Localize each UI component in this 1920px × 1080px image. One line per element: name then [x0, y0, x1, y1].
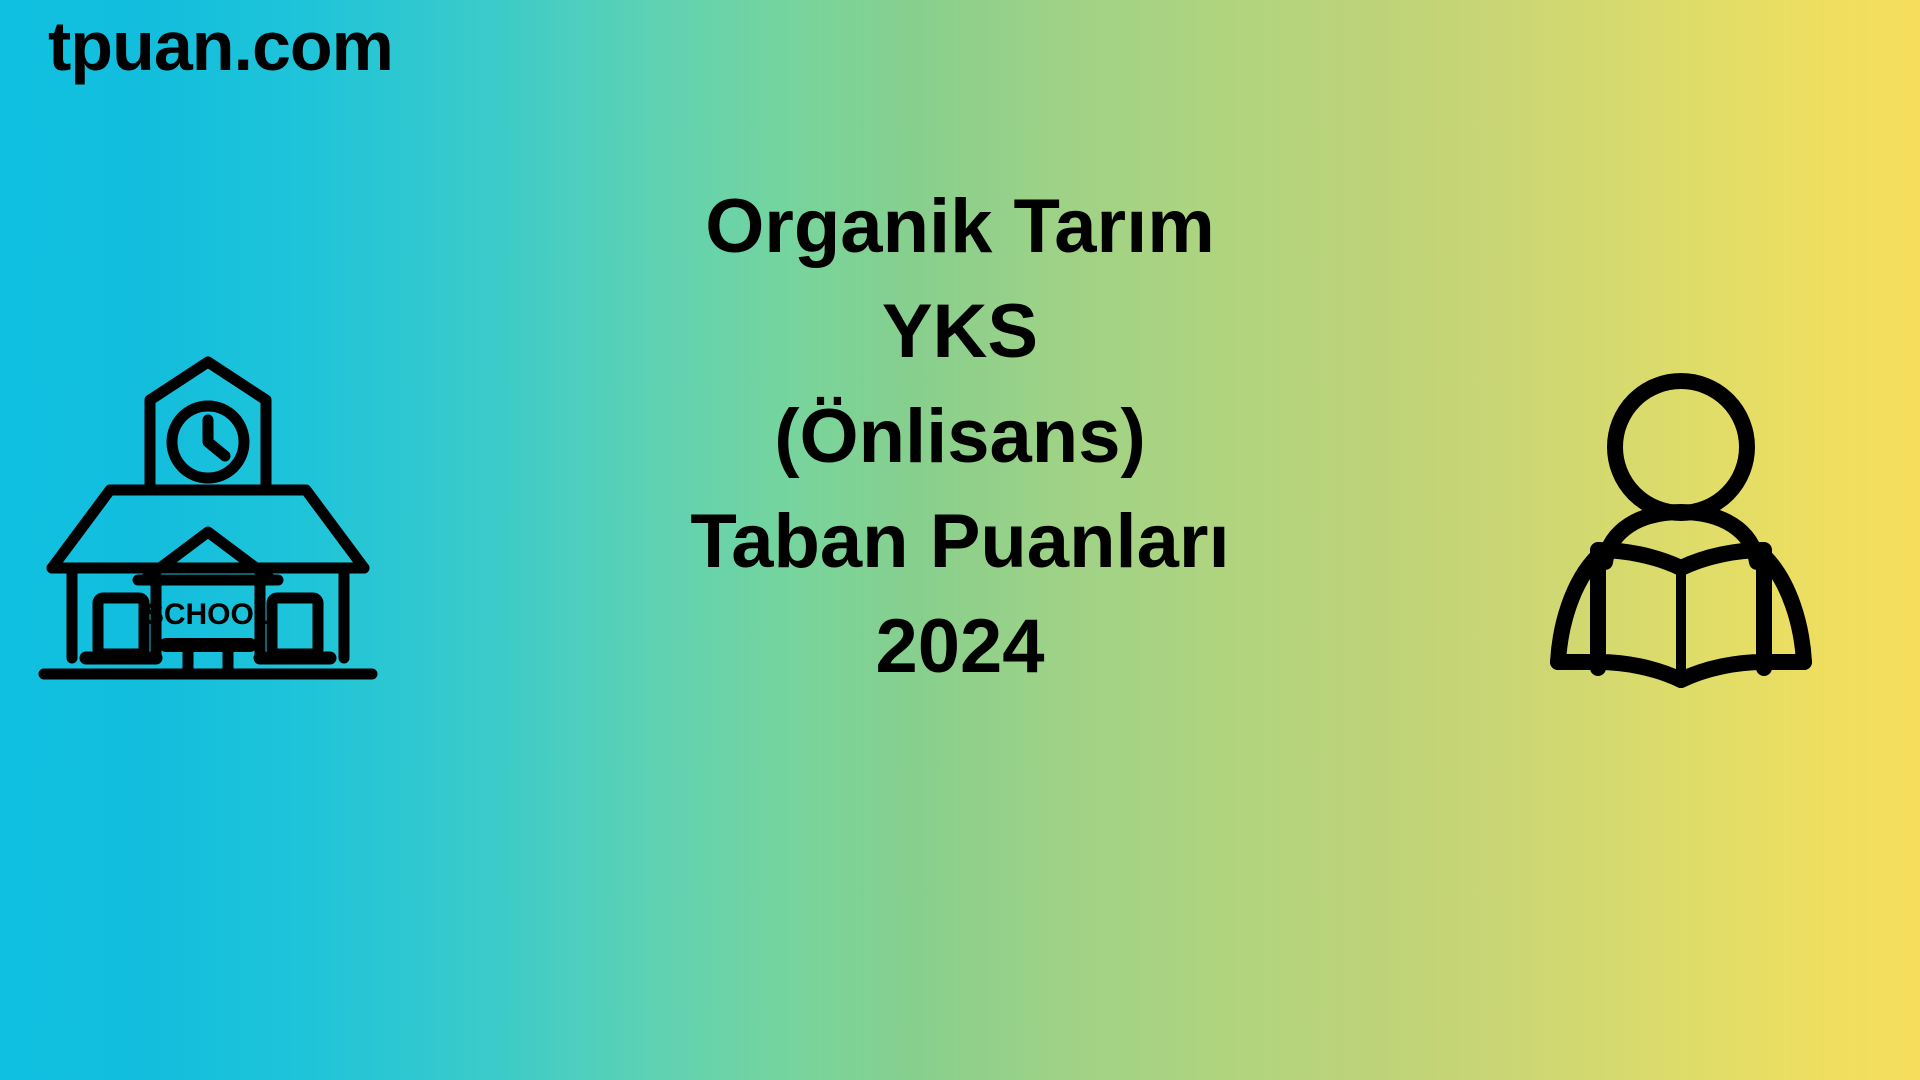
banner-canvas: tpuan.com SCHOOL: [0, 0, 1920, 1080]
title-line-5: 2024: [510, 595, 1410, 700]
school-window-right: [272, 598, 318, 654]
title-line-2: YKS: [510, 280, 1410, 385]
book-right-page: [1681, 550, 1764, 680]
site-logo[interactable]: tpuan.com: [48, 8, 393, 85]
school-building-icon: SCHOOL: [38, 340, 378, 685]
title-line-3: (Önlisans): [510, 385, 1410, 490]
student-head: [1615, 381, 1747, 513]
student-reading-book-icon: [1548, 370, 1848, 690]
school-window-left: [98, 598, 144, 654]
title-line-1: Organik Tarım: [510, 175, 1410, 280]
school-clock-hands: [208, 420, 225, 456]
title-line-4: Taban Puanları: [510, 490, 1410, 595]
school-sign-text: SCHOOL: [144, 598, 272, 631]
book-left-page: [1598, 550, 1681, 680]
banner-title: Organik Tarım YKS (Önlisans) Taban Puanl…: [510, 175, 1410, 699]
